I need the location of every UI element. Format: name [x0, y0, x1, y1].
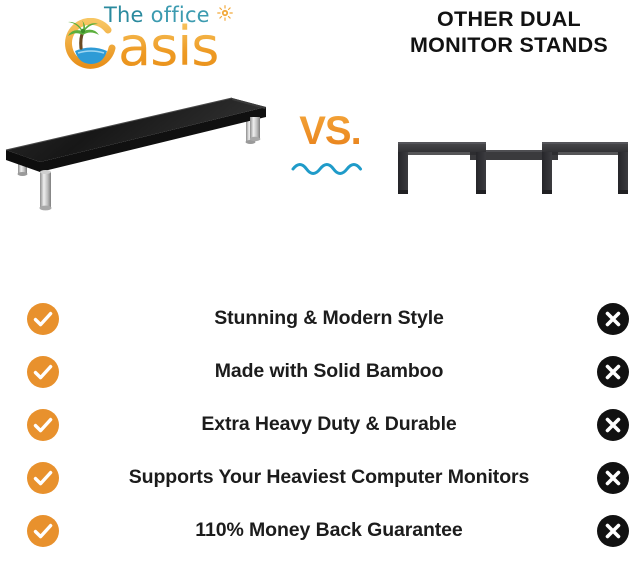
x-cell [568, 355, 640, 389]
x-cell [568, 408, 640, 442]
check-circle-icon [26, 408, 60, 442]
versus-label: VS. [282, 110, 378, 152]
table-row: Made with Solid Bamboo [0, 345, 640, 398]
brand-logo[interactable]: The office [62, 2, 282, 74]
other-stand-image [382, 114, 640, 206]
check-circle-icon [26, 302, 60, 336]
other-stands-title-line1: OTHER DUAL [380, 6, 638, 32]
check-cell [0, 514, 90, 548]
check-circle-icon [26, 514, 60, 548]
check-circle-icon [26, 461, 60, 495]
x-circle-icon [596, 355, 630, 389]
feature-label: Made with Solid Bamboo [90, 360, 568, 383]
table-row: 110% Money Back Guarantee [0, 504, 640, 557]
other-stands-title-line2: MONITOR STANDS [380, 32, 638, 58]
sun-icon [217, 5, 233, 21]
office-oasis-stand-image [0, 88, 290, 218]
check-cell [0, 408, 90, 442]
feature-label: Stunning & Modern Style [90, 307, 568, 330]
table-row: Stunning & Modern Style [0, 292, 640, 345]
comparison-feature-list: Stunning & Modern Style Made with Solid … [0, 292, 640, 557]
logo-oasis-text: asis [118, 20, 218, 74]
palm-tree-icon [62, 18, 120, 74]
product-showcase: VS. [0, 88, 640, 273]
x-circle-icon [596, 408, 630, 442]
wave-divider-icon [282, 160, 378, 181]
logo-oasis-line: asis [62, 18, 218, 74]
check-cell [0, 461, 90, 495]
x-cell [568, 461, 640, 495]
other-stands-title: OTHER DUAL MONITOR STANDS [380, 6, 638, 58]
feature-label: 110% Money Back Guarantee [90, 519, 568, 542]
check-cell [0, 355, 90, 389]
header: The office [0, 0, 640, 88]
check-circle-icon [26, 355, 60, 389]
x-circle-icon [596, 514, 630, 548]
table-row: Supports Your Heaviest Computer Monitors [0, 451, 640, 504]
check-cell [0, 302, 90, 336]
x-cell [568, 302, 640, 336]
feature-label: Supports Your Heaviest Computer Monitors [90, 466, 568, 489]
x-cell [568, 514, 640, 548]
x-circle-icon [596, 461, 630, 495]
feature-label: Extra Heavy Duty & Durable [90, 413, 568, 436]
table-row: Extra Heavy Duty & Durable [0, 398, 640, 451]
versus-block: VS. [282, 110, 378, 181]
x-circle-icon [596, 302, 630, 336]
